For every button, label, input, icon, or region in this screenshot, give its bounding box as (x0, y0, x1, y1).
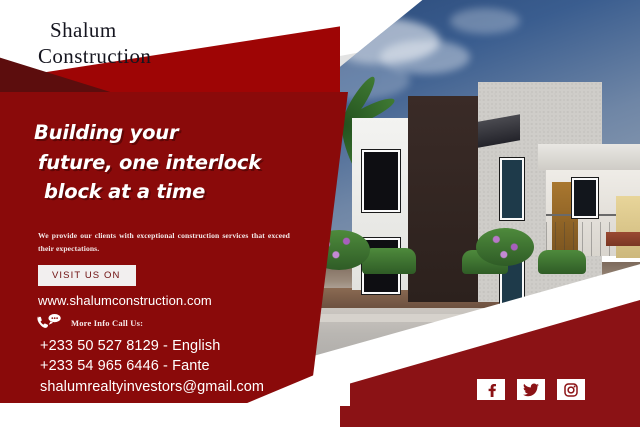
facebook-icon[interactable] (477, 379, 505, 400)
description-text: We provide our clients with exceptional … (38, 229, 290, 255)
website-url[interactable]: www.shalumconstruction.com (38, 293, 212, 308)
instagram-icon[interactable] (557, 379, 585, 400)
headline: Building your future, one interlock bloc… (34, 118, 334, 207)
headline-line-3: block at a time (44, 177, 334, 207)
window (362, 150, 400, 212)
twitter-icon[interactable] (517, 379, 545, 400)
email-address[interactable]: shalumrealtyinvestors@gmail.com (40, 379, 264, 395)
brand-title: Shalum Construction (50, 18, 310, 69)
balcony-slab (538, 144, 640, 170)
call-us-label: More Info Call Us: (71, 318, 143, 328)
brand-line-2: Construction (38, 44, 310, 70)
phone-fante[interactable]: +233 54 965 6446 - Fante (40, 356, 220, 376)
phone-english[interactable]: +233 50 527 8129 - English (40, 336, 220, 356)
call-us-row: More Info Call Us: (36, 313, 143, 333)
phone-chat-icon (36, 313, 62, 333)
headline-line-1: Building your (34, 118, 334, 148)
cloud-shape (450, 8, 520, 34)
flyer-canvas: Shalum Construction Building your future… (0, 0, 640, 427)
phone-numbers: +233 50 527 8129 - English +233 54 965 6… (40, 336, 220, 376)
window (500, 158, 524, 220)
neighbour-house (616, 196, 640, 258)
headline-line-2: future, one interlock (38, 148, 334, 178)
flowering-shrub (476, 228, 534, 266)
window (572, 178, 598, 218)
hedge (538, 250, 586, 274)
hedge (362, 248, 416, 274)
content-area: Shalum Construction Building your future… (0, 0, 348, 427)
neighbour-roof (606, 232, 640, 246)
visit-us-on-button[interactable]: VISIT US ON (38, 265, 136, 286)
social-links (477, 379, 585, 400)
brand-line-1: Shalum (50, 18, 117, 42)
